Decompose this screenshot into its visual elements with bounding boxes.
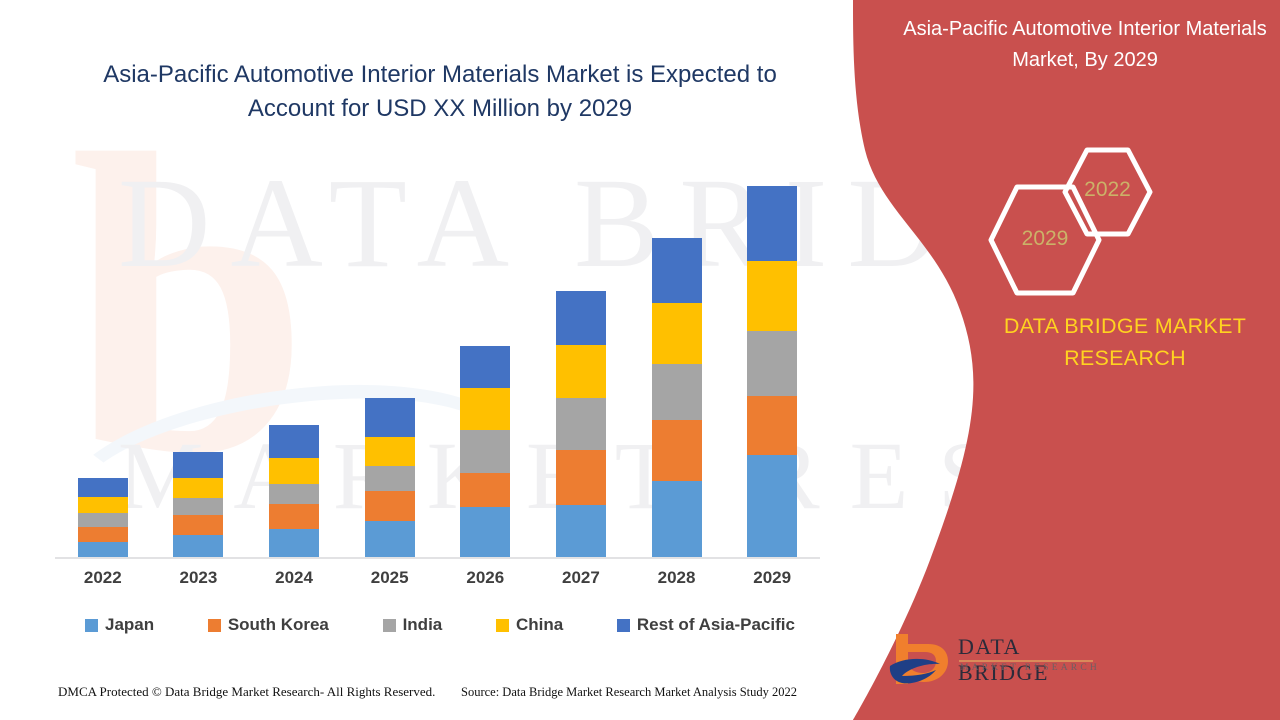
logo-mark-icon <box>888 630 952 688</box>
logo-divider <box>959 660 1093 662</box>
panel-title: Asia-Pacific Automotive Interior Materia… <box>900 14 1270 76</box>
infographic-canvas: b DATA BRIDGE MARKET RESEARCH Asia-Pacif… <box>0 0 1280 720</box>
hexagon-2022-label: 2022 <box>1060 178 1155 202</box>
data-bridge-logo: DATA BRIDGE MARKET RESEARCH <box>888 630 1103 692</box>
hexagon-group: 2029 2022 <box>985 145 1185 285</box>
hexagon-2022: 2022 <box>1060 145 1155 240</box>
brand-name: DATA BRIDGE MARKET RESEARCH <box>960 310 1280 374</box>
logo-subtitle: MARKET RESEARCH <box>960 663 1100 673</box>
